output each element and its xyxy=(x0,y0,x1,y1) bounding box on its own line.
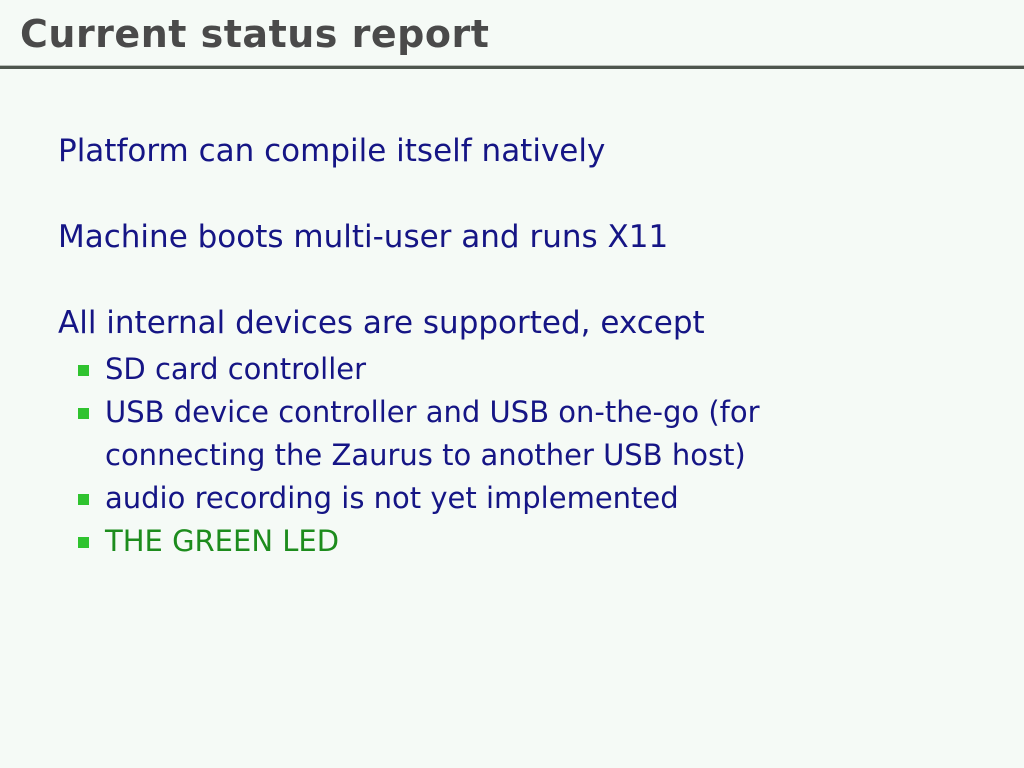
list-item-label: THE GREEN LED xyxy=(105,524,339,558)
body-line-devices: All internal devices are supported, exce… xyxy=(58,304,705,342)
square-bullet-icon xyxy=(78,408,89,419)
body-line-platform: Platform can compile itself natively xyxy=(58,132,605,170)
slide-header: Current status report xyxy=(0,0,1024,70)
list-item-label: audio recording is not yet implemented xyxy=(105,481,679,515)
slide-body: Platform can compile itself natively Mac… xyxy=(0,70,1024,768)
list-item-label: SD card controller xyxy=(105,352,366,386)
square-bullet-icon xyxy=(78,365,89,376)
list-item: SD card controller xyxy=(78,348,958,391)
body-line-text: Machine boots multi-user and runs X11 xyxy=(58,218,668,256)
list-item: USB device controller and USB on-the-go … xyxy=(78,391,845,477)
square-bullet-icon xyxy=(78,494,89,505)
body-line-machine: Machine boots multi-user and runs X11 xyxy=(58,218,668,256)
divider-dark-line xyxy=(0,66,1024,69)
list-item: audio recording is not yet implemented xyxy=(78,477,958,520)
body-line-text: All internal devices are supported, exce… xyxy=(58,304,705,342)
list-item: THE GREEN LED xyxy=(78,520,958,563)
list-item-label: USB device controller and USB on-the-go … xyxy=(105,395,760,472)
page-title: Current status report xyxy=(20,11,489,57)
square-bullet-icon xyxy=(78,537,89,548)
body-line-text: Platform can compile itself natively xyxy=(58,132,605,170)
presentation-slide: Current status report Platform can compi… xyxy=(0,0,1024,768)
title-divider xyxy=(0,65,1024,69)
bullet-list: SD card controller USB device controller… xyxy=(78,348,958,563)
